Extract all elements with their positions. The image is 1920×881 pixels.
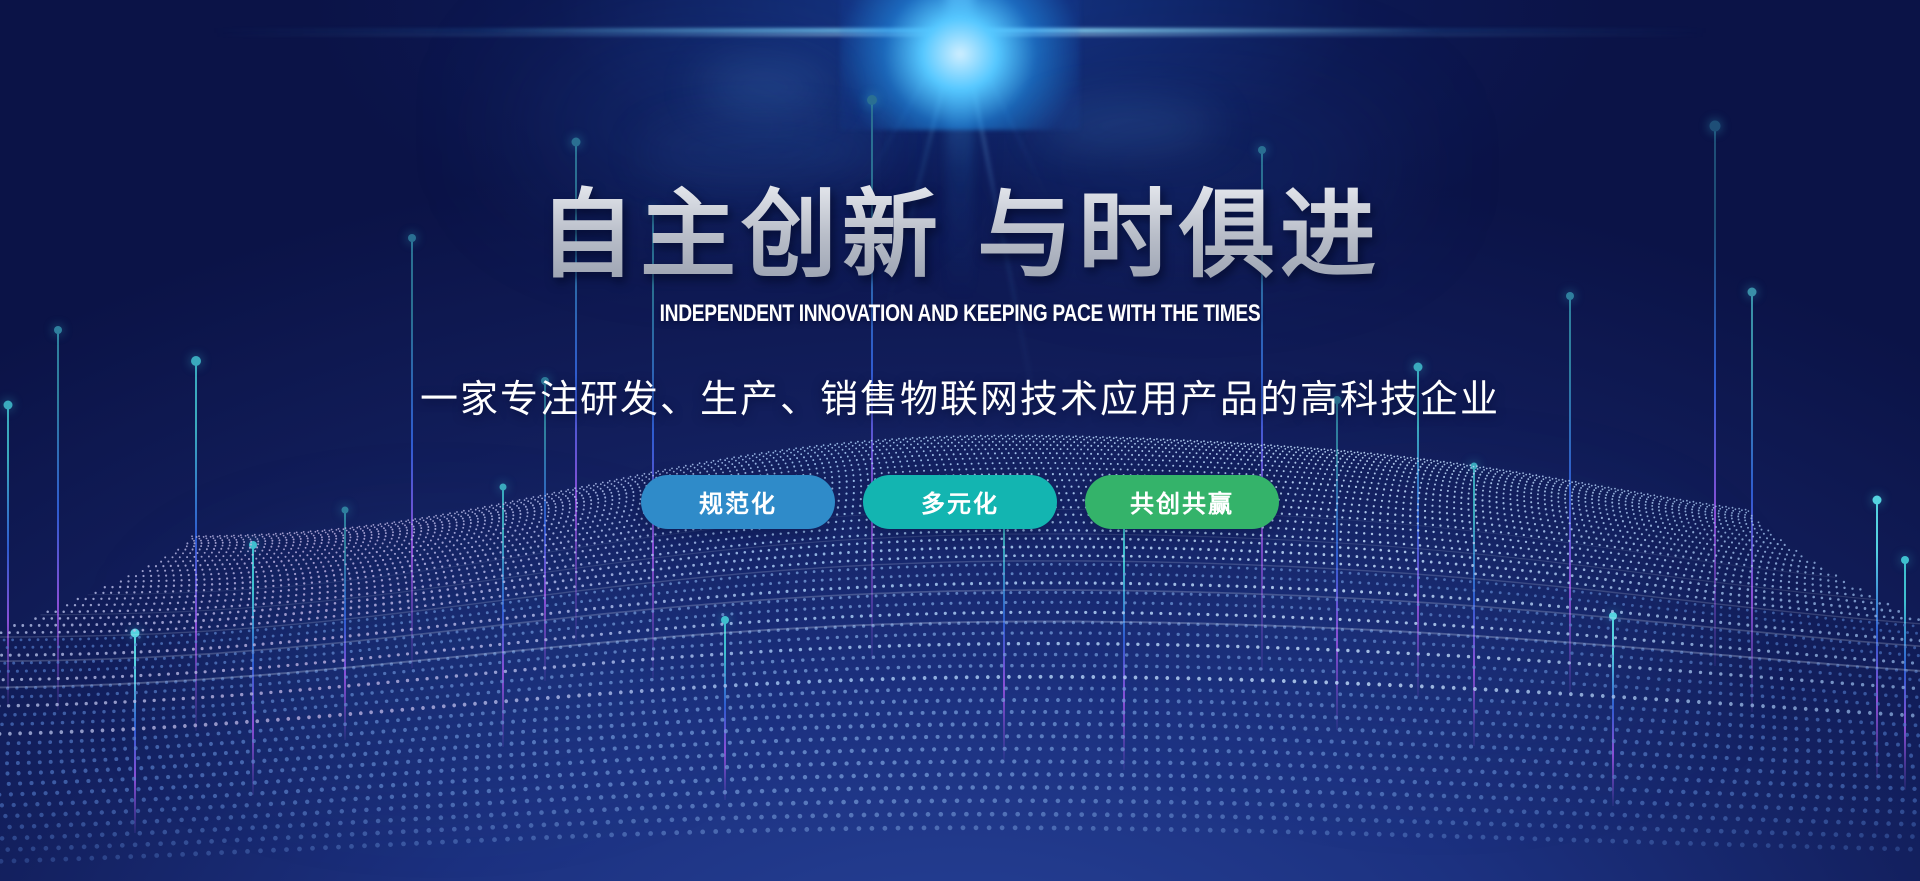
light-pillar-stem [344,510,346,740]
light-pillar-dot [1901,556,1909,564]
light-pillar-dot [721,616,729,624]
feature-pill[interactable]: 多元化 [863,475,1057,529]
particle-highlight-ribbon [0,622,1920,688]
tagline: 一家专注研发、生产、销售物联网技术应用产品的高科技企业 [0,368,1920,423]
particle-dots-dim [0,563,1920,865]
feature-pill-label: 多元化 [921,484,999,519]
light-pillar-stem [1904,560,1906,790]
light-pillar-dot [131,629,140,638]
light-pillar-stem [134,633,136,833]
headline-phrase-right: 与时俱进 [977,182,1381,289]
particle-highlight-ribbon [41,534,1877,615]
particle-highlight-ribbon [0,590,1920,661]
light-pillar-stem [1876,500,1878,780]
feature-pill-label: 共创共赢 [1130,484,1234,519]
background-haze [180,560,700,760]
background-haze [1180,520,1700,740]
subtitle-english: INDEPENDENT INNOVATION AND KEEPING PACE … [192,300,1728,328]
feature-pill-label: 规范化 [699,484,777,519]
light-pillar-stem [1123,520,1125,770]
headline-phrase-left: 自主创新 [539,182,943,289]
page-title: 自主创新与时俱进 [0,0,1920,286]
hero-banner: 自主创新与时俱进 INDEPENDENT INNOVATION AND KEEP… [0,0,1920,881]
hero-content: 自主创新与时俱进 INDEPENDENT INNOVATION AND KEEP… [0,0,1920,529]
light-pillar-dot [1609,612,1617,620]
light-pillar-stem [252,545,254,795]
light-pillar-stem [1003,500,1005,760]
feature-pill[interactable]: 规范化 [641,475,835,529]
light-pillar-stem [1612,616,1614,806]
light-pillar-stem [724,620,726,800]
particle-highlight-ribbon [0,561,1920,637]
light-pillar-dot [249,541,257,549]
feature-pill[interactable]: 共创共赢 [1085,475,1279,529]
feature-pill-group: 规范化多元化共创共赢 [0,475,1920,529]
